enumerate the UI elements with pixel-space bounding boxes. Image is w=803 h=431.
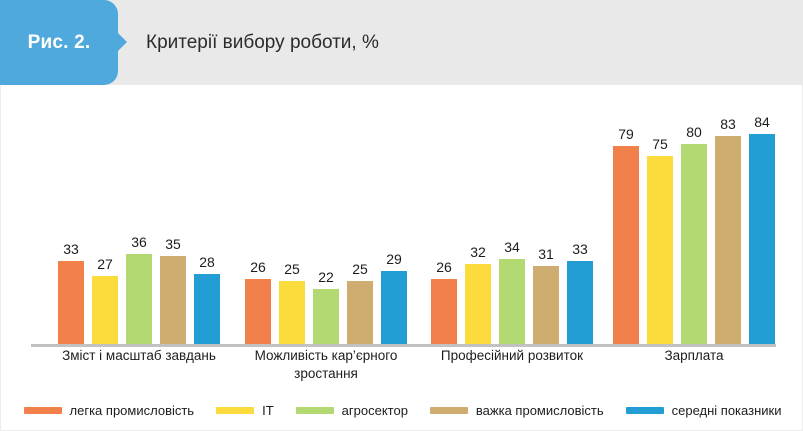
- bar[interactable]: [126, 254, 152, 344]
- bar-group-bars: 3327363528: [58, 86, 220, 344]
- figure-container: Рис. 2. Критерії вибору роботи, % 332736…: [0, 0, 803, 431]
- chart-panel: 3327363528262522252926323431337975808384…: [0, 85, 803, 431]
- bar[interactable]: [347, 281, 373, 344]
- bar[interactable]: [160, 256, 186, 344]
- bar[interactable]: [681, 144, 707, 344]
- bar-item[interactable]: 36: [126, 86, 152, 344]
- bar-value-label: 75: [652, 137, 668, 151]
- bar-value-label: 31: [538, 247, 554, 261]
- category-label: Зарплата: [589, 347, 799, 365]
- bar[interactable]: [499, 259, 525, 344]
- bar-value-label: 84: [754, 115, 770, 129]
- bar[interactable]: [647, 156, 673, 344]
- bar-value-label: 25: [352, 262, 368, 276]
- bar-item[interactable]: 80: [681, 86, 707, 344]
- bar-value-label: 33: [63, 242, 79, 256]
- bar[interactable]: [613, 146, 639, 344]
- legend-swatch-icon: [430, 407, 468, 414]
- bar[interactable]: [431, 279, 457, 344]
- legend-item[interactable]: середні показники: [626, 403, 782, 418]
- legend-item[interactable]: IT: [216, 403, 274, 418]
- bar-value-label: 79: [618, 127, 634, 141]
- bar-value-label: 25: [284, 262, 300, 276]
- bar-item[interactable]: 25: [279, 86, 305, 344]
- legend-swatch-icon: [24, 407, 62, 414]
- legend-label: IT: [262, 403, 274, 418]
- bar-item[interactable]: 26: [245, 86, 271, 344]
- figure-number-tag: Рис. 2.: [0, 0, 118, 85]
- bar-item[interactable]: 29: [381, 86, 407, 344]
- bar-group-bars: 7975808384: [613, 86, 775, 344]
- bar[interactable]: [194, 274, 220, 344]
- bar-value-label: 32: [470, 245, 486, 259]
- tag-arrow-icon: [116, 31, 127, 53]
- bar-item[interactable]: 26: [431, 86, 457, 344]
- bar-group: 3327363528: [58, 86, 220, 344]
- bar-group: 2625222529: [245, 86, 407, 344]
- bar-item[interactable]: 33: [58, 86, 84, 344]
- bar[interactable]: [381, 271, 407, 344]
- bar-group: 2632343133: [431, 86, 593, 344]
- bar-item[interactable]: 22: [313, 86, 339, 344]
- bar-value-label: 80: [686, 125, 702, 139]
- bar[interactable]: [92, 276, 118, 344]
- legend-swatch-icon: [216, 407, 254, 414]
- legend-item[interactable]: агросектор: [296, 403, 408, 418]
- figure-number-label: Рис. 2.: [28, 32, 91, 54]
- bar-value-label: 28: [199, 255, 215, 269]
- figure-header: Рис. 2. Критерії вибору роботи, %: [0, 0, 803, 85]
- figure-title: Критерії вибору роботи, %: [146, 0, 379, 85]
- bar-item[interactable]: 83: [715, 86, 741, 344]
- chart-legend: легка промисловістьITагросекторважка про…: [1, 395, 803, 425]
- legend-item[interactable]: важка промисловість: [430, 403, 604, 418]
- legend-label: агросектор: [342, 403, 408, 418]
- bar-value-label: 27: [97, 257, 113, 271]
- bar-value-label: 22: [318, 270, 334, 284]
- bar-item[interactable]: 34: [499, 86, 525, 344]
- bar-item[interactable]: 79: [613, 86, 639, 344]
- bar-value-label: 33: [572, 242, 588, 256]
- bar-value-label: 83: [720, 117, 736, 131]
- bar[interactable]: [58, 261, 84, 344]
- bar[interactable]: [245, 279, 271, 344]
- bar-item[interactable]: 32: [465, 86, 491, 344]
- legend-swatch-icon: [626, 407, 664, 414]
- legend-item[interactable]: легка промисловість: [24, 403, 195, 418]
- category-axis-labels: Зміст і масштаб завданьМожливість кар’єр…: [1, 347, 803, 391]
- bar-value-label: 34: [504, 240, 520, 254]
- bar[interactable]: [465, 264, 491, 344]
- bar-item[interactable]: 84: [749, 86, 775, 344]
- bar-value-label: 35: [165, 237, 181, 251]
- bar-value-label: 26: [436, 260, 452, 274]
- legend-label: важка промисловість: [476, 403, 604, 418]
- bar-group-bars: 2625222529: [245, 86, 407, 344]
- bar[interactable]: [533, 266, 559, 344]
- category-label: Зміст і масштаб завдань: [34, 347, 244, 365]
- bar[interactable]: [715, 136, 741, 344]
- category-label: Можливість кар’єрного зростання: [221, 347, 431, 383]
- bar-item[interactable]: 28: [194, 86, 220, 344]
- bar[interactable]: [567, 261, 593, 344]
- bar-value-label: 36: [131, 235, 147, 249]
- bar-value-label: 26: [250, 260, 266, 274]
- legend-label: середні показники: [672, 403, 782, 418]
- bar-item[interactable]: 25: [347, 86, 373, 344]
- bar-item[interactable]: 27: [92, 86, 118, 344]
- bar-item[interactable]: 31: [533, 86, 559, 344]
- bar-value-label: 29: [386, 252, 402, 266]
- bar-group-bars: 2632343133: [431, 86, 593, 344]
- bar[interactable]: [279, 281, 305, 344]
- bar-item[interactable]: 35: [160, 86, 186, 344]
- legend-label: легка промисловість: [70, 403, 195, 418]
- bar-item[interactable]: 75: [647, 86, 673, 344]
- bar[interactable]: [313, 289, 339, 344]
- bar-item[interactable]: 33: [567, 86, 593, 344]
- category-label: Професійний розвиток: [407, 347, 617, 365]
- bar-group: 7975808384: [613, 86, 775, 344]
- bar[interactable]: [749, 134, 775, 344]
- plot-area: 3327363528262522252926323431337975808384: [1, 85, 803, 346]
- legend-swatch-icon: [296, 407, 334, 414]
